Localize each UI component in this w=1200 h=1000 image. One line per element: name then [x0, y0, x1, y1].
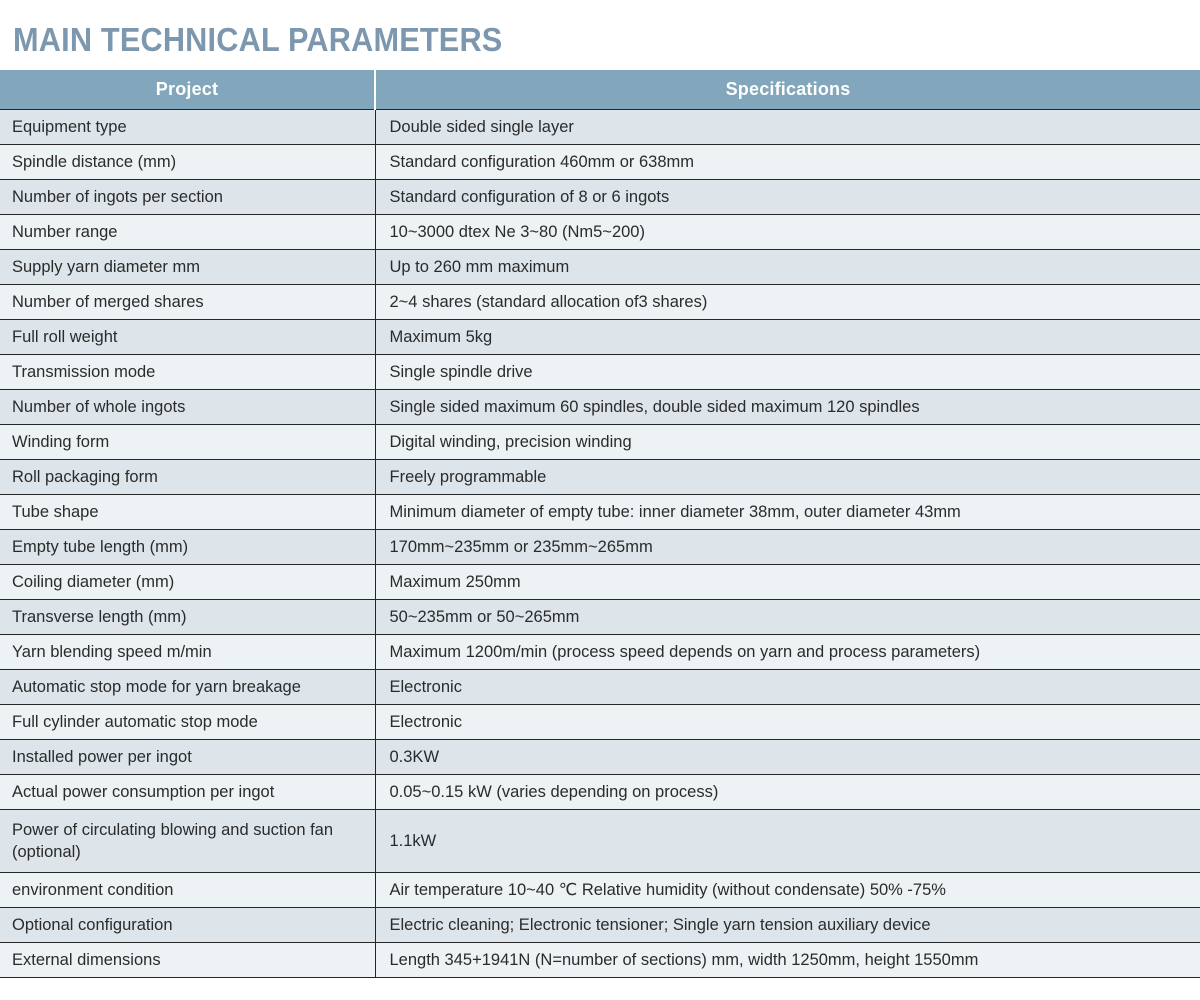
table-row: environment conditionAir temperature 10~…: [0, 873, 1200, 908]
cell-project: Tube shape: [0, 495, 375, 530]
cell-specification: 2~4 shares (standard allocation of3 shar…: [375, 285, 1200, 320]
table-row: Installed power per ingot0.3KW: [0, 740, 1200, 775]
cell-project: Empty tube length (mm): [0, 530, 375, 565]
cell-specification: Electric cleaning; Electronic tensioner;…: [375, 908, 1200, 943]
technical-parameters-table: Project Specifications Equipment typeDou…: [0, 70, 1200, 978]
table-body: Equipment typeDouble sided single layerS…: [0, 110, 1200, 978]
cell-specification: Standard configuration of 8 or 6 ingots: [375, 180, 1200, 215]
cell-project: environment condition: [0, 873, 375, 908]
cell-project: Coiling diameter (mm): [0, 565, 375, 600]
table-row: Equipment typeDouble sided single layer: [0, 110, 1200, 145]
cell-project: Actual power consumption per ingot: [0, 775, 375, 810]
cell-project: Number of whole ingots: [0, 390, 375, 425]
cell-specification: Maximum 250mm: [375, 565, 1200, 600]
cell-specification: Standard configuration 460mm or 638mm: [375, 145, 1200, 180]
table-row: Full cylinder automatic stop modeElectro…: [0, 705, 1200, 740]
table-row: Power of circulating blowing and suction…: [0, 810, 1200, 873]
cell-project: Transverse length (mm): [0, 600, 375, 635]
table-row: Actual power consumption per ingot0.05~0…: [0, 775, 1200, 810]
cell-project: Full cylinder automatic stop mode: [0, 705, 375, 740]
table-row: Number of merged shares2~4 shares (stand…: [0, 285, 1200, 320]
cell-project: Power of circulating blowing and suction…: [0, 810, 375, 873]
table-row: Coiling diameter (mm)Maximum 250mm: [0, 565, 1200, 600]
cell-project: Transmission mode: [0, 355, 375, 390]
cell-specification: 1.1kW: [375, 810, 1200, 873]
table-row: Spindle distance (mm)Standard configurat…: [0, 145, 1200, 180]
cell-project: Number range: [0, 215, 375, 250]
cell-specification: Electronic: [375, 705, 1200, 740]
page-title: MAIN TECHNICAL PARAMETERS: [0, 0, 1116, 62]
cell-specification: Electronic: [375, 670, 1200, 705]
table-row: Number of whole ingotsSingle sided maxim…: [0, 390, 1200, 425]
table-row: Optional configurationElectric cleaning;…: [0, 908, 1200, 943]
cell-specification: Maximum 1200m/min (process speed depends…: [375, 635, 1200, 670]
table-row: Automatic stop mode for yarn breakageEle…: [0, 670, 1200, 705]
cell-specification: Freely programmable: [375, 460, 1200, 495]
cell-project: Full roll weight: [0, 320, 375, 355]
cell-specification: Double sided single layer: [375, 110, 1200, 145]
cell-project: Supply yarn diameter mm: [0, 250, 375, 285]
table-row: Transmission modeSingle spindle drive: [0, 355, 1200, 390]
table-row: External dimensionsLength 345+1941N (N=n…: [0, 943, 1200, 978]
cell-project: Number of ingots per section: [0, 180, 375, 215]
table-row: Empty tube length (mm)170mm~235mm or 235…: [0, 530, 1200, 565]
cell-project: Number of merged shares: [0, 285, 375, 320]
cell-project: Automatic stop mode for yarn breakage: [0, 670, 375, 705]
cell-project: Optional configuration: [0, 908, 375, 943]
cell-specification: Length 345+1941N (N=number of sections) …: [375, 943, 1200, 978]
cell-specification: 50~235mm or 50~265mm: [375, 600, 1200, 635]
cell-project: Winding form: [0, 425, 375, 460]
cell-specification: Digital winding, precision winding: [375, 425, 1200, 460]
cell-specification: Maximum 5kg: [375, 320, 1200, 355]
cell-specification: Single spindle drive: [375, 355, 1200, 390]
cell-specification: Air temperature 10~40 ℃ Relative humidit…: [375, 873, 1200, 908]
table-row: Number of ingots per sectionStandard con…: [0, 180, 1200, 215]
cell-specification: Single sided maximum 60 spindles, double…: [375, 390, 1200, 425]
table-row: Winding formDigital winding, precision w…: [0, 425, 1200, 460]
cell-project: Roll packaging form: [0, 460, 375, 495]
table-row: Full roll weightMaximum 5kg: [0, 320, 1200, 355]
cell-project: External dimensions: [0, 943, 375, 978]
parameters-page: MAIN TECHNICAL PARAMETERS Project Specif…: [0, 0, 1200, 1000]
cell-specification: Minimum diameter of empty tube: inner di…: [375, 495, 1200, 530]
cell-project: Spindle distance (mm): [0, 145, 375, 180]
cell-project: Yarn blending speed m/min: [0, 635, 375, 670]
cell-specification: 170mm~235mm or 235mm~265mm: [375, 530, 1200, 565]
table-row: Yarn blending speed m/minMaximum 1200m/m…: [0, 635, 1200, 670]
cell-specification: 0.3KW: [375, 740, 1200, 775]
cell-specification: 0.05~0.15 kW (varies depending on proces…: [375, 775, 1200, 810]
table-header: Project Specifications: [0, 70, 1200, 110]
table-row: Supply yarn diameter mmUp to 260 mm maxi…: [0, 250, 1200, 285]
table-header-row: Project Specifications: [0, 70, 1200, 110]
table-row: Number range10~3000 dtex Ne 3~80 (Nm5~20…: [0, 215, 1200, 250]
column-header-specifications: Specifications: [375, 70, 1200, 110]
cell-specification: Up to 260 mm maximum: [375, 250, 1200, 285]
column-header-project: Project: [0, 70, 375, 110]
cell-project: Equipment type: [0, 110, 375, 145]
cell-project: Installed power per ingot: [0, 740, 375, 775]
table-row: Transverse length (mm)50~235mm or 50~265…: [0, 600, 1200, 635]
table-row: Roll packaging formFreely programmable: [0, 460, 1200, 495]
table-row: Tube shapeMinimum diameter of empty tube…: [0, 495, 1200, 530]
cell-specification: 10~3000 dtex Ne 3~80 (Nm5~200): [375, 215, 1200, 250]
